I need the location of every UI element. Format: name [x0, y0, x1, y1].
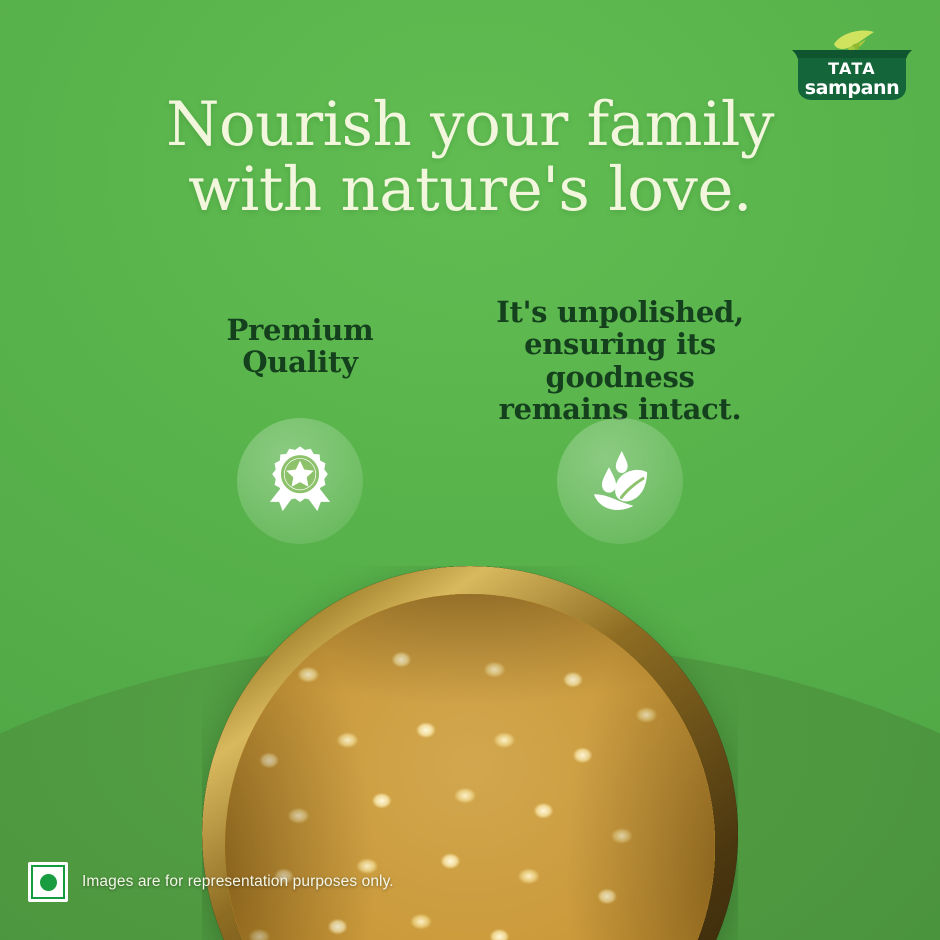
headline-line-2: with nature's love.: [0, 157, 940, 222]
svg-text:TATA: TATA: [828, 59, 876, 78]
award-ribbon-icon: [263, 444, 337, 518]
feature-unpolished-badge: [557, 418, 683, 544]
feature-list: Premium Quality: [0, 296, 940, 426]
feature-premium-quality: Premium Quality: [150, 296, 450, 379]
feature-premium-quality-label: Premium Quality: [150, 296, 450, 379]
headline-line-1: Nourish your family: [166, 89, 774, 160]
feature-unpolished: It's unpolished, ensuring its goodness r…: [450, 296, 790, 426]
feature-premium-quality-badge: [237, 418, 363, 544]
feature-text-line-1: It's unpolished,: [496, 295, 744, 329]
feature-text-line-1: Premium: [227, 313, 374, 347]
vegetarian-mark-border: [31, 865, 65, 899]
feature-text-line-2: Quality: [242, 345, 357, 379]
vegetarian-mark: [28, 862, 68, 902]
leaf-icon: [834, 31, 874, 52]
footer: Images are for representation purposes o…: [28, 862, 394, 902]
logo-wordmark-tata: TATA: [828, 59, 876, 78]
leaf-droplet-icon: [583, 444, 657, 518]
creative-canvas: TATA sampann Nourish your family with na…: [0, 0, 940, 940]
page-title: Nourish your family with nature's love.: [0, 92, 940, 223]
disclaimer-text: Images are for representation purposes o…: [82, 873, 394, 891]
vegetarian-mark-dot: [40, 874, 57, 891]
feature-text-line-2: ensuring its goodness: [524, 327, 716, 393]
feature-unpolished-label: It's unpolished, ensuring its goodness r…: [450, 296, 790, 426]
